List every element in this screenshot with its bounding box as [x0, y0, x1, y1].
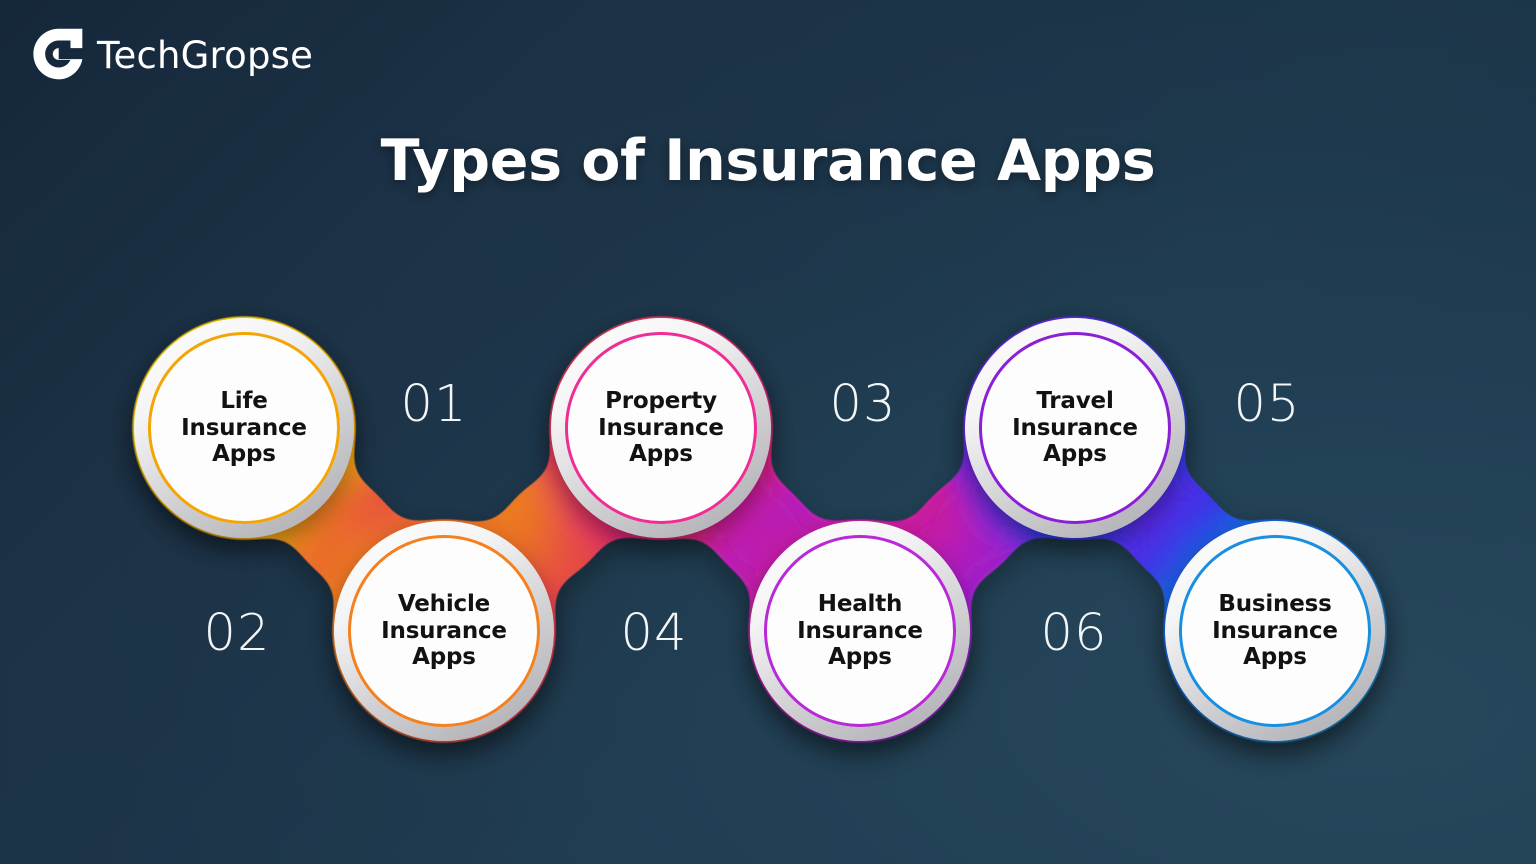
node-disc: Property Insurance Apps [565, 332, 757, 524]
node-disc: Business Insurance Apps [1179, 535, 1371, 727]
step-number-01: 01 [394, 375, 474, 434]
page-title: Types of Insurance Apps [0, 128, 1536, 194]
node-business-insurance[interactable]: Business Insurance Apps [1165, 521, 1385, 741]
node-health-insurance[interactable]: Health Insurance Apps [750, 521, 970, 741]
step-number-03: 03 [823, 375, 903, 434]
node-label: Travel Insurance Apps [1008, 388, 1142, 469]
node-label: Property Insurance Apps [594, 388, 728, 469]
g-monogram-icon [30, 27, 84, 81]
node-disc: Life Insurance Apps [148, 332, 340, 524]
node-label: Vehicle Insurance Apps [377, 591, 511, 672]
step-number-04: 04 [614, 604, 694, 663]
node-disc: Travel Insurance Apps [979, 332, 1171, 524]
node-disc: Health Insurance Apps [764, 535, 956, 727]
node-travel-insurance[interactable]: Travel Insurance Apps [965, 318, 1185, 538]
node-label: Business Insurance Apps [1208, 591, 1342, 672]
step-number-05: 05 [1227, 375, 1307, 434]
step-number-06: 06 [1034, 604, 1114, 663]
node-label: Health Insurance Apps [793, 591, 927, 672]
brand-logo[interactable]: TechGropse [30, 27, 313, 81]
node-label: Life Insurance Apps [177, 388, 311, 469]
step-number-02: 02 [197, 604, 277, 663]
node-property-insurance[interactable]: Property Insurance Apps [551, 318, 771, 538]
node-life-insurance[interactable]: Life Insurance Apps [134, 318, 354, 538]
brand-wordmark: TechGropse [97, 34, 313, 77]
node-vehicle-insurance[interactable]: Vehicle Insurance Apps [334, 521, 554, 741]
node-disc: Vehicle Insurance Apps [348, 535, 540, 727]
